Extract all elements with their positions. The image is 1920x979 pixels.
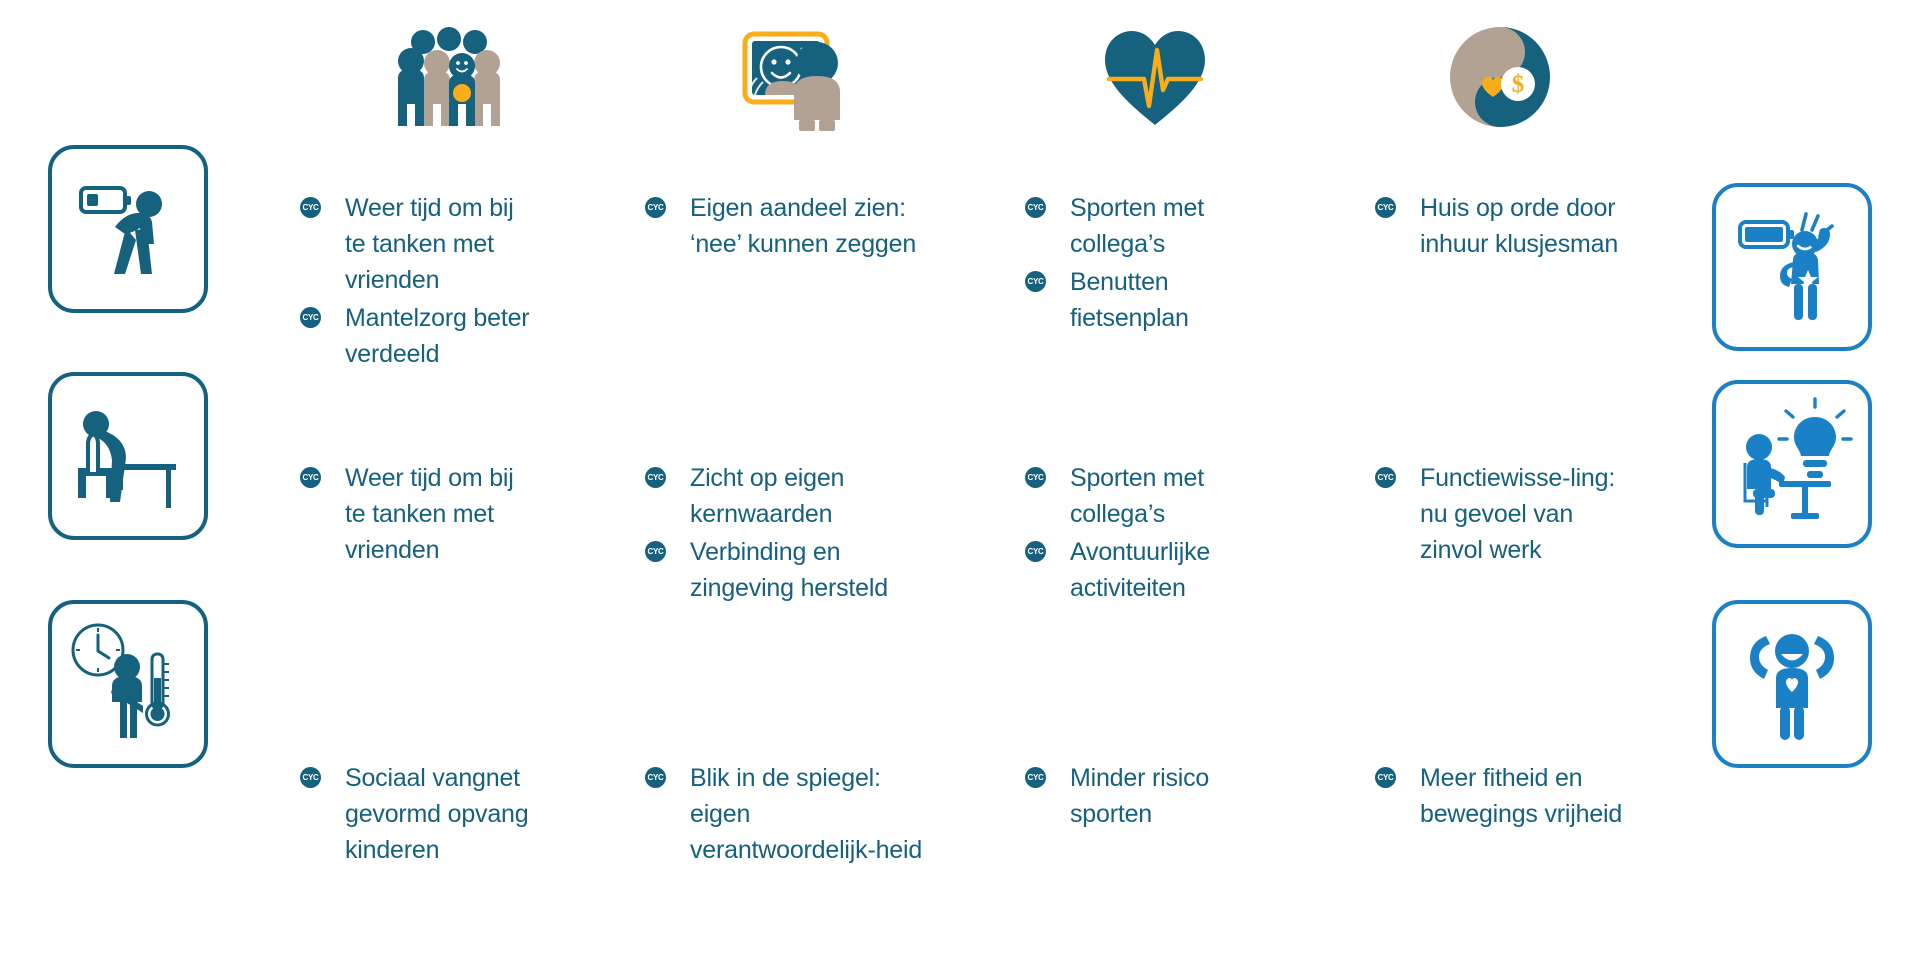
cyc-badge-icon: CYC: [1025, 271, 1046, 292]
list-item[interactable]: CYC Weer tijd om bij te tanken met vrien…: [300, 190, 530, 298]
list-item-label: Benutten fietsenplan: [1070, 264, 1260, 336]
cyc-badge-icon: CYC: [1375, 767, 1396, 788]
bullet-group-r2c2: CYC Zicht op eigen kernwaarden CYC Verbi…: [645, 460, 935, 608]
list-item-label: Verbinding en zingeving hersteld: [690, 534, 935, 606]
list-item[interactable]: CYC Verbinding en zingeving hersteld: [645, 534, 935, 606]
list-item-label: Sporten met collega’s: [1070, 190, 1260, 262]
person-at-desk-lightbulb-icon-card: [1712, 380, 1872, 548]
list-item[interactable]: CYC Sociaal vangnet gevormd opvang kinde…: [300, 760, 530, 868]
list-item-label: Weer tijd om bij te tanken met vrienden: [345, 190, 530, 298]
bullet-group-r3c1: CYC Sociaal vangnet gevormd opvang kinde…: [300, 760, 530, 870]
bullet-group-r3c3: CYC Minder risico sporten: [1025, 760, 1260, 834]
list-item[interactable]: CYC Minder risico sporten: [1025, 760, 1260, 832]
list-item[interactable]: CYC Meer fitheid en bewegings vrijheid: [1375, 760, 1635, 832]
list-item[interactable]: CYC Avontuurlijke activiteiten: [1025, 534, 1260, 606]
cyc-badge-icon: CYC: [1025, 767, 1046, 788]
list-item[interactable]: CYC Huis op orde door inhuur klusjesman: [1375, 190, 1635, 262]
list-item[interactable]: CYC Sporten met collega’s: [1025, 460, 1260, 532]
low-battery-tired-person-icon: [73, 170, 183, 288]
full-battery-strong-person-icon-card: [1712, 183, 1872, 351]
list-item[interactable]: CYC Benutten fietsenplan: [1025, 264, 1260, 336]
list-item[interactable]: CYC Weer tijd om bij te tanken met vrien…: [300, 460, 530, 568]
cyc-badge-icon: CYC: [645, 197, 666, 218]
cyc-badge-icon: CYC: [645, 467, 666, 488]
heart-pulse-icon: [1080, 12, 1230, 142]
list-item-label: Avontuurlijke activiteiten: [1070, 534, 1260, 606]
bullet-group-r1c3: CYC Sporten met collega’s CYC Benutten f…: [1025, 190, 1260, 338]
list-item-label: Weer tijd om bij te tanken met vrienden: [345, 460, 530, 568]
exhausted-person-at-desk-icon: [70, 398, 186, 514]
cyc-badge-icon: CYC: [1025, 197, 1046, 218]
list-item-label: Eigen aandeel zien: ‘nee’ kunnen zeggen: [690, 190, 935, 262]
cyc-badge-icon: CYC: [300, 767, 321, 788]
mirror-reflection-icon: [725, 12, 875, 142]
list-item-label: Huis op orde door inhuur klusjesman: [1420, 190, 1635, 262]
list-item-label: Sporten met collega’s: [1070, 460, 1260, 532]
cyc-badge-icon: CYC: [645, 767, 666, 788]
list-item[interactable]: CYC Mantelzorg beter verdeeld: [300, 300, 530, 372]
cyc-badge-icon: CYC: [1025, 467, 1046, 488]
yin-yang-balance-icon: $: [1425, 12, 1575, 142]
list-item-label: Sociaal vangnet gevormd opvang kinderen: [345, 760, 530, 868]
cyc-badge-icon: CYC: [300, 467, 321, 488]
bullet-group-r2c3: CYC Sporten met collega’s CYC Avontuurli…: [1025, 460, 1260, 608]
group-of-people-icon: [375, 12, 525, 142]
exhausted-person-at-desk-icon-card: [48, 372, 208, 540]
bullet-group-r1c1: CYC Weer tijd om bij te tanken met vrien…: [300, 190, 530, 374]
list-item[interactable]: CYC Sporten met collega’s: [1025, 190, 1260, 262]
clock-person-thermometer-icon: [66, 622, 190, 746]
happy-person-arms-up-icon-card: [1712, 600, 1872, 768]
list-item-label: Minder risico sporten: [1070, 760, 1260, 832]
happy-person-arms-up-icon: [1738, 624, 1846, 744]
header-icon-row: $: [0, 0, 1920, 150]
cyc-badge-icon: CYC: [1025, 541, 1046, 562]
list-item[interactable]: CYC Functiewisse-ling: nu gevoel van zin…: [1375, 460, 1635, 568]
full-battery-strong-person-icon: [1736, 208, 1848, 326]
list-item-label: Meer fitheid en bewegings vrijheid: [1420, 760, 1635, 832]
cyc-badge-icon: CYC: [1375, 197, 1396, 218]
list-item[interactable]: CYC Zicht op eigen kernwaarden: [645, 460, 935, 532]
list-item[interactable]: CYC Eigen aandeel zien: ‘nee’ kunnen zeg…: [645, 190, 935, 262]
list-item-label: Functiewisse-ling: nu gevoel van zinvol …: [1420, 460, 1635, 568]
list-item-label: Zicht op eigen kernwaarden: [690, 460, 935, 532]
cyc-badge-icon: CYC: [1375, 467, 1396, 488]
cyc-badge-icon: CYC: [300, 197, 321, 218]
list-item-label: Blik in de spiegel: eigen verantwoordeli…: [690, 760, 935, 868]
person-at-desk-lightbulb-icon: [1733, 405, 1851, 523]
low-battery-tired-person-icon-card: [48, 145, 208, 313]
list-item[interactable]: CYC Blik in de spiegel: eigen verantwoor…: [645, 760, 935, 868]
bullet-group-r2c1: CYC Weer tijd om bij te tanken met vrien…: [300, 460, 530, 570]
clock-person-thermometer-icon-card: [48, 600, 208, 768]
bullet-group-r3c2: CYC Blik in de spiegel: eigen verantwoor…: [645, 760, 935, 870]
bullet-group-r3c4: CYC Meer fitheid en bewegings vrijheid: [1375, 760, 1635, 834]
cyc-badge-icon: CYC: [645, 541, 666, 562]
bullet-group-r1c4: CYC Huis op orde door inhuur klusjesman: [1375, 190, 1635, 264]
svg-text:$: $: [1512, 71, 1525, 98]
bullet-group-r2c4: CYC Functiewisse-ling: nu gevoel van zin…: [1375, 460, 1635, 570]
cyc-badge-icon: CYC: [300, 307, 321, 328]
list-item-label: Mantelzorg beter verdeeld: [345, 300, 530, 372]
bullet-group-r1c2: CYC Eigen aandeel zien: ‘nee’ kunnen zeg…: [645, 190, 935, 264]
infographic-canvas: $: [0, 0, 1920, 979]
